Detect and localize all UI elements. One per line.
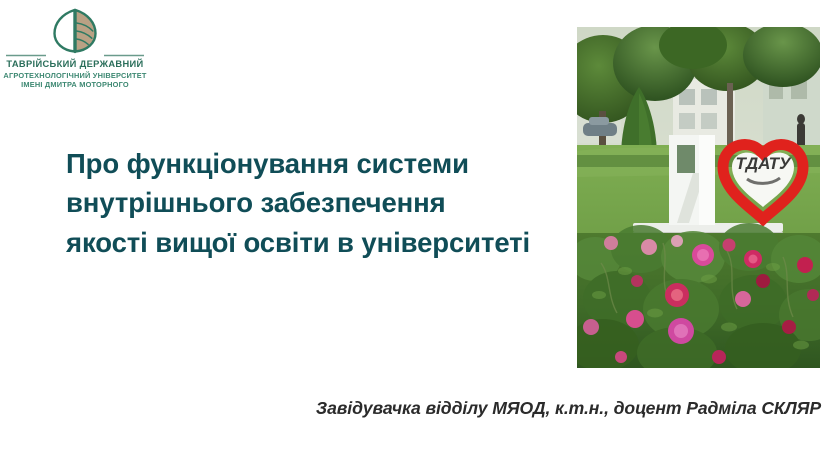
presentation-slide: ТАВРІЙСЬКИЙ ДЕРЖАВНИЙ АГРОТЕХНОЛОГІЧНИЙ … [0, 0, 839, 472]
campus-photo-illustration: ТДАТУ [577, 27, 820, 368]
slide-title-line-3: якості вищої освіти в університеті [66, 223, 566, 262]
slide-title: Про функціонування системи внутрішнього … [66, 144, 566, 262]
leaf-emblem-icon [0, 4, 150, 54]
slide-title-line-1: Про функціонування системи [66, 144, 566, 183]
logo-divider-rules [0, 54, 150, 57]
logo-line-2: АГРОТЕХНОЛОГІЧНИЙ УНІВЕРСИТЕТ [0, 71, 150, 80]
svg-text:ТДАТУ: ТДАТУ [735, 154, 792, 173]
slide-title-line-2: внутрішнього забезпечення [66, 183, 566, 222]
logo-wordmark: ТАВРІЙСЬКИЙ ДЕРЖАВНИЙ АГРОТЕХНОЛОГІЧНИЙ … [0, 59, 150, 90]
monument-letter [669, 135, 715, 225]
logo-line-1: ТАВРІЙСЬКИЙ ДЕРЖАВНИЙ [0, 59, 150, 71]
campus-photo: ТДАТУ [577, 27, 820, 368]
author-credit: Завідувачка відділу МЯОД, к.т.н., доцент… [297, 398, 821, 419]
university-logo: ТАВРІЙСЬКИЙ ДЕРЖАВНИЙ АГРОТЕХНОЛОГІЧНИЙ … [0, 4, 150, 90]
logo-line-3: ІМЕНІ ДМИТРА МОТОРНОГО [0, 80, 150, 89]
